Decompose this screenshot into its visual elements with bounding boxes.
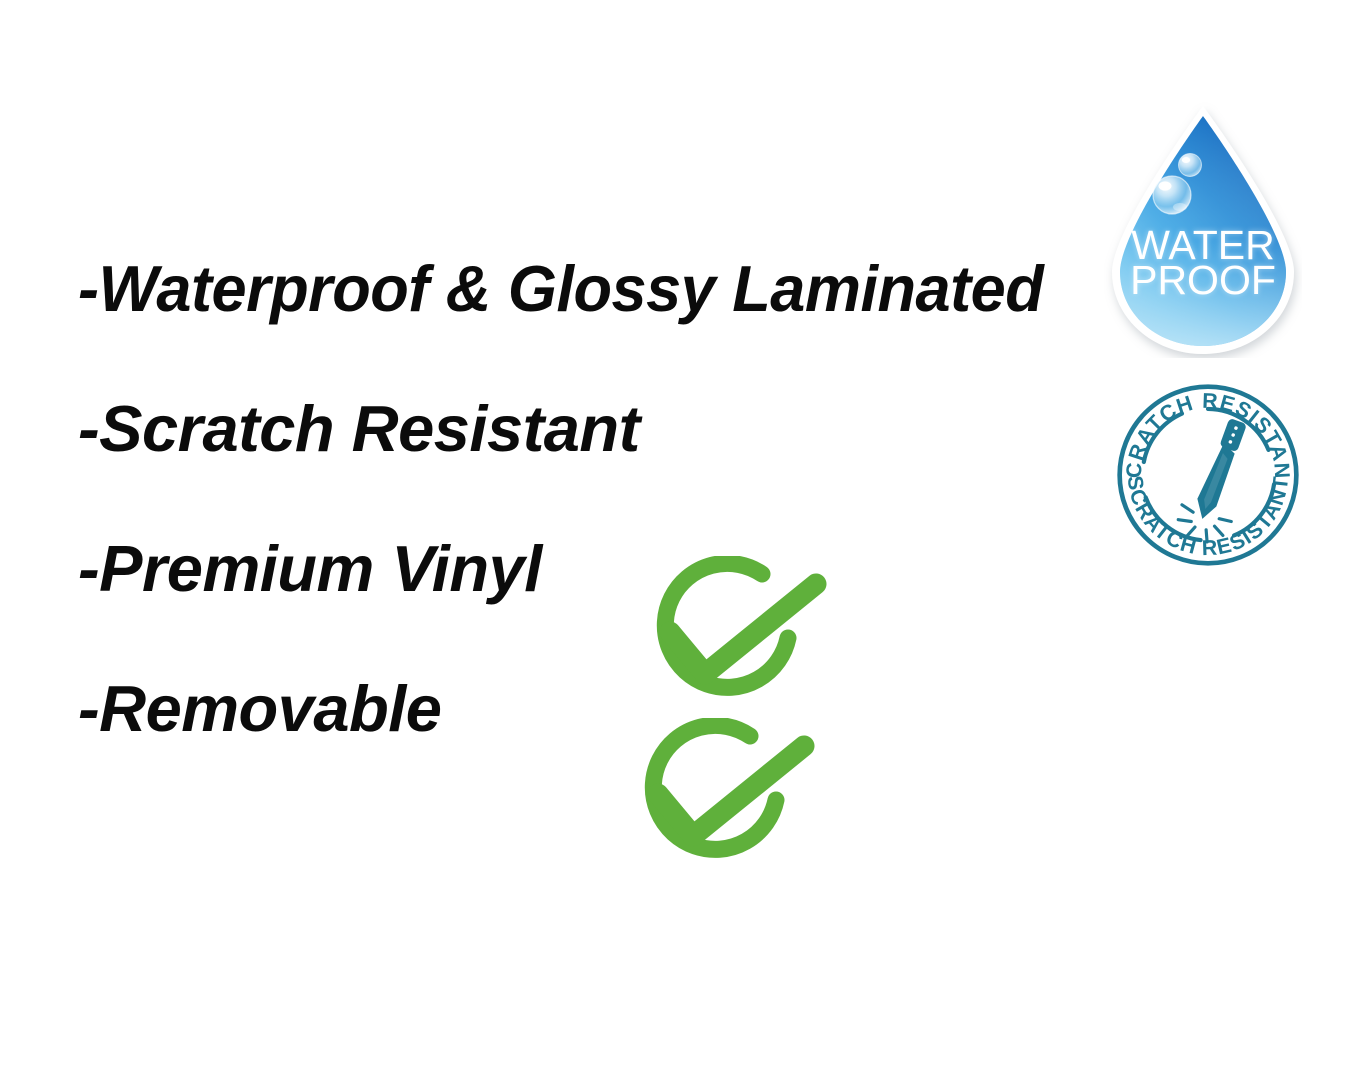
knife-icon [1191, 417, 1250, 522]
feature-item-scratch-resistant: -Scratch Resistant [78, 396, 1108, 536]
feature-list: -Waterproof & Glossy Laminated -Scratch … [78, 256, 1108, 816]
stamp-text-top: SCRATCH RESISTANT [1115, 382, 1294, 480]
feature-item-premium-vinyl: -Premium Vinyl [78, 536, 1108, 676]
water-bubble-large [1153, 176, 1191, 214]
check-tick [658, 746, 804, 836]
feature-item-removable: -Removable [78, 676, 1108, 816]
check-mark-premium-vinyl [640, 556, 840, 716]
check-tick [670, 584, 816, 674]
check-mark-removable [628, 718, 828, 878]
waterproof-badge: WATER PROOF [1104, 102, 1302, 358]
feature-item-waterproof-glossy-laminated: -Waterproof & Glossy Laminated [78, 256, 1077, 396]
scratch-resistant-badge: SCRATCH RESISTANT SCRATCH RESISTANT [1115, 382, 1301, 568]
feature-highlight-graphic: -Waterproof & Glossy Laminated -Scratch … [0, 0, 1359, 1080]
water-bubble-small [1179, 154, 1202, 177]
